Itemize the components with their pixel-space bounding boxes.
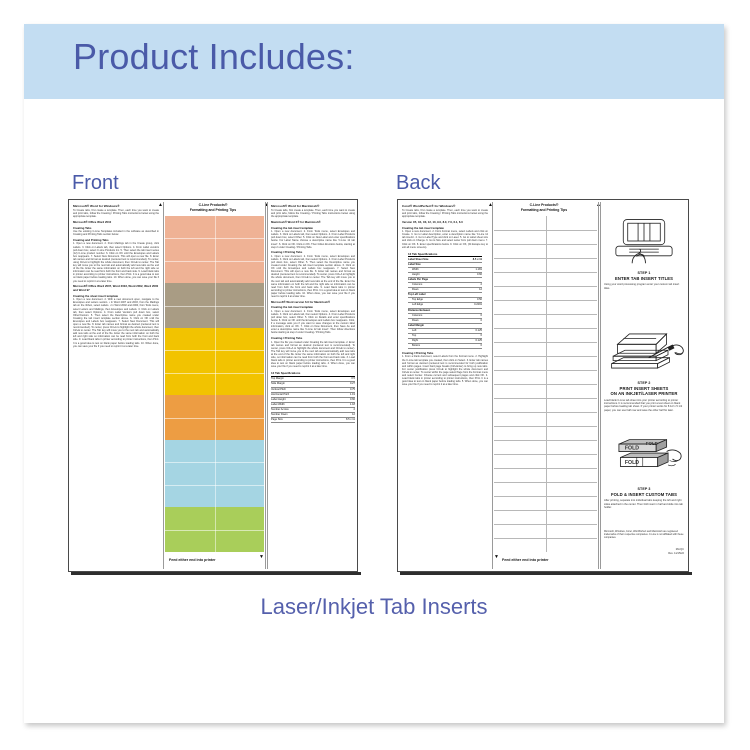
back-spec-key: Top	[408, 334, 416, 338]
back-spec-key: Top Left Label	[408, 293, 426, 297]
front-left-section-sub-2: Creating the sheet insert template	[73, 294, 159, 298]
front-right-section-heading-0: Macintosh® Word X® for Macintosh®	[271, 220, 355, 224]
tab-center-split	[215, 440, 216, 507]
front-spec-value: 1.19	[350, 393, 355, 397]
tab-color-peach	[165, 216, 264, 283]
front-spec-key: Number Down	[271, 413, 288, 417]
tab-color-taupe	[165, 283, 264, 328]
back-left-body1: 1. Open a new document. 2. From Format m…	[402, 230, 488, 249]
back-spec-key: Columns	[408, 314, 422, 318]
back-spec-key: Rows	[408, 319, 419, 323]
back-spec-key: Distance Between	[408, 309, 430, 313]
front-spec-key: Horizontal Pitch	[271, 393, 289, 397]
front-left-title: Microsoft® Word for Windows®	[73, 204, 159, 208]
back-spec-row: Bottom0	[408, 344, 482, 349]
back-spec-value: 0	[481, 319, 482, 323]
back-spec-key: Label Sheet Size	[408, 258, 428, 262]
back-left-column: Corel® WordPerfect® for Windows®To Creat…	[402, 204, 488, 386]
front-spec-value: 0.5	[351, 377, 355, 381]
front-right-intro: To Create tabs, first create a template.…	[271, 209, 355, 218]
back-spec-value: 0	[481, 334, 482, 338]
back-spec-key: Left	[408, 329, 416, 333]
tab-color-blue	[165, 440, 264, 507]
step-name-3-0: FOLD & INSERT CUSTOM TABS	[604, 492, 684, 497]
back-left-title: Corel® WordPerfect® for Windows®	[402, 204, 488, 208]
front-left-section-body-1: 1. Open a new document. 2. From Mailings…	[73, 242, 159, 282]
front-spec-key: Label Height	[271, 398, 286, 402]
tab-color-orange	[165, 395, 264, 440]
front-spec-value: 2	[354, 408, 355, 412]
front-spec-title: 12 Tab Specifications	[271, 371, 355, 376]
back-spec-key: Labels Per Page	[408, 278, 428, 282]
back-spec-value: 12	[479, 288, 482, 292]
tab-color-yellow	[165, 328, 264, 395]
back-divider-1	[492, 202, 493, 569]
front-left-section-heading-1: Creating and Printing Tabs	[73, 238, 159, 242]
front-right-column: Microsoft® Word for Macintosh®To Create …	[271, 204, 355, 423]
feed-arrow-down: ▼	[259, 555, 264, 560]
front-right-section-body-1: 1. Open a new document. 2. From Tools me…	[271, 255, 355, 298]
step-body-1: Using your word processing program enter…	[604, 283, 684, 290]
tab-center-split	[215, 507, 216, 552]
back-spec-value: 0.50	[477, 298, 482, 302]
front-feed-note: Feed either end into printer	[169, 558, 216, 562]
svg-text:FOLD: FOLD	[625, 460, 639, 466]
front-divider-3	[267, 202, 268, 569]
back-feed-note: Feed either end into printer	[502, 558, 549, 562]
step-block-1: STEP 1ENTER TAB INSERT TITLESUsing your …	[604, 218, 684, 290]
back-left-body2: 1. From a blank document, select Labels …	[402, 355, 488, 386]
step-art-2	[604, 328, 684, 379]
back-spec-value: 1.181	[476, 268, 483, 272]
front-spec-value: 0.75	[350, 388, 355, 392]
back-spec-value: 0.125	[476, 339, 483, 343]
back-spec-value: 2	[481, 283, 482, 287]
back-spec-key: Right	[408, 339, 418, 343]
front-divider-1	[163, 202, 164, 569]
front-spec-key: Number Across	[271, 408, 289, 412]
back-header-line2: Formatting and Printing Tips	[494, 208, 594, 213]
front-spec-value: 0.27	[350, 382, 355, 386]
product-card-page: Product Includes: Front Back C-Line Prod…	[24, 24, 724, 723]
front-right-section-heading-2: Microsoft® Word version 6.0 for Macintos…	[271, 300, 355, 304]
computer-icon	[607, 218, 681, 264]
tab-center-split	[215, 395, 216, 440]
back-sheet: C-Line Products®Formatting and Printing …	[397, 199, 689, 572]
svg-text:FOLD: FOLD	[646, 441, 659, 446]
step-name-1-0: ENTER TAB INSERT TITLES	[604, 276, 684, 281]
rev-date: Rev. 11/15/22	[604, 552, 684, 556]
back-spec-key: Bottom	[408, 344, 420, 348]
back-spec-value: 0	[481, 314, 482, 318]
header-banner: Product Includes:	[24, 24, 724, 99]
back-spec-key: Rows	[408, 288, 419, 292]
back-spec-key: Label Size	[408, 263, 421, 267]
back-spec-key: Label Margin	[408, 324, 424, 328]
front-right-section-body-2: 1. Open a new document. 2. From Tools me…	[271, 310, 355, 335]
front-right-section-heading-1: Creating / Printing Tabs	[271, 250, 355, 254]
back-spec-key: Left Edge	[408, 303, 423, 307]
tab-center-split	[215, 283, 216, 328]
front-left-section-heading-0: Microsoft® Office Word 2010	[73, 220, 159, 224]
front-right-section-heading-3: Creating / Printing Tabs	[271, 336, 355, 340]
tab-center-split	[215, 328, 216, 395]
back-divider-3	[600, 202, 601, 569]
back-divider-2	[598, 202, 599, 569]
step-body-2: Load blank C-Line tab sheet into your pr…	[604, 399, 684, 412]
tab-color-green	[165, 507, 264, 552]
back-sheet-header: C-Line Products®Formatting and Printing …	[494, 203, 594, 212]
back-left-sub1: Creating the tab insert template	[402, 226, 488, 230]
front-spec-key: Page Size	[271, 418, 283, 422]
back-spec-value: 0	[481, 344, 482, 348]
back-spec-value: 0.125	[476, 329, 483, 333]
front-spec-value: 0.66	[350, 398, 355, 402]
page-title: Product Includes:	[73, 36, 355, 78]
back-left-sub2: Creating / Printing Tabs	[402, 351, 488, 355]
front-spec-value: 8.5 x 11	[346, 418, 355, 422]
front-right-title: Microsoft® Word for Macintosh®	[271, 204, 355, 208]
back-spec-key: Columns	[408, 283, 422, 287]
front-left-intro: To Create tabs, first create a template.…	[73, 209, 159, 218]
front-spec-key: Vertical Pitch	[271, 388, 286, 392]
front-left-section-sub-0: Creating Tabs	[73, 226, 159, 230]
back-left-intro: To Create tabs, first create a template.…	[402, 209, 488, 218]
front-spec-key: Label Width	[271, 403, 285, 407]
step-name-2-1: ON AN INKJET/LASER PRINTER	[604, 391, 684, 396]
front-left-section-body-0: Use the existing C-Line Templates includ…	[73, 230, 159, 236]
step-art-1	[604, 218, 684, 269]
front-right-section-sub-2: Creating the tab insert template	[271, 305, 355, 309]
tab-color-strip	[165, 216, 264, 552]
step-block-3: FOLDFOLDFOLDSTEP 3FOLD & INSERT CUSTOM T…	[604, 438, 684, 509]
back-spec-key: Width	[408, 268, 419, 272]
back-spec-value: 8.5 x 11	[473, 258, 482, 262]
revision-info: ML/QCRev. 11/15/22	[604, 548, 684, 555]
front-right-section-sub-0: Creating the tab insert template	[271, 226, 355, 230]
front-spec-key: Side Margin	[271, 382, 285, 386]
front-left-section-body-2: 1. Open a new document. 2. With a new do…	[73, 298, 159, 348]
tab-center-split	[215, 216, 216, 283]
front-header-line2: Formatting and Printing Tips	[165, 208, 261, 213]
product-caption: Laser/Inkjet Tab Inserts	[24, 594, 724, 620]
step-body-3: After printing, separate into individual…	[604, 499, 684, 509]
front-spec-row: Page Size8.5 x 11	[271, 418, 355, 423]
back-spec-table: 12 Tab SpecificationsLabel Sheet Size8.5…	[408, 252, 482, 350]
front-left-column: Microsoft® Word for Windows®To Create ta…	[73, 204, 159, 348]
front-spec-value: 12	[352, 413, 355, 417]
svg-text:FOLD: FOLD	[625, 445, 639, 451]
front-sheet: C-Line Products®Formatting and Printing …	[68, 199, 358, 572]
back-feed-arrow-down: ▼	[494, 555, 499, 560]
back-label: Back	[396, 172, 440, 195]
front-left-section-heading-2: Microsoft® Office Word 2007, Word 2003, …	[73, 284, 159, 292]
front-label: Front	[72, 172, 119, 195]
back-left-versions: Version X5, X4, X3, 12, 10, 9.0, 8.0, 7.…	[402, 220, 488, 224]
front-divider-2	[265, 202, 266, 569]
front-spec-table: 12 Tab SpecificationsTop Margin0.5Side M…	[271, 371, 355, 423]
printer-icon	[604, 328, 686, 374]
back-blank-tab-area	[494, 216, 597, 552]
front-spec-key: Top Margin	[271, 377, 284, 381]
step-block-2: STEP 2PRINT INSERT SHEETSON AN INKJET/LA…	[604, 328, 684, 412]
front-sheet-shadow	[71, 572, 361, 575]
back-tab-center-split	[546, 216, 547, 552]
front-right-section-body-3: 1. Open the file you created under Creat…	[271, 341, 355, 369]
step-art-3: FOLDFOLDFOLD	[604, 438, 684, 485]
back-spec-value: 0.66	[477, 273, 482, 277]
back-spec-key: Top Edge	[408, 298, 423, 302]
tabs-icon: FOLDFOLDFOLD	[604, 438, 686, 480]
back-spec-title: 12 Tab Specifications	[408, 252, 482, 257]
front-spec-value: 1.18	[350, 403, 355, 407]
back-spec-value: 0.2291	[474, 303, 482, 307]
front-sheet-header: C-Line Products®Formatting and Printing …	[165, 203, 261, 212]
back-spec-key: Height	[408, 273, 420, 277]
legal-notice: Microsoft, Windows, Corel, WordPerfect a…	[604, 530, 684, 539]
front-right-section-body-0: 1. Open a new document. 2. From Tools me…	[271, 230, 355, 249]
back-sheet-shadow	[400, 572, 692, 575]
